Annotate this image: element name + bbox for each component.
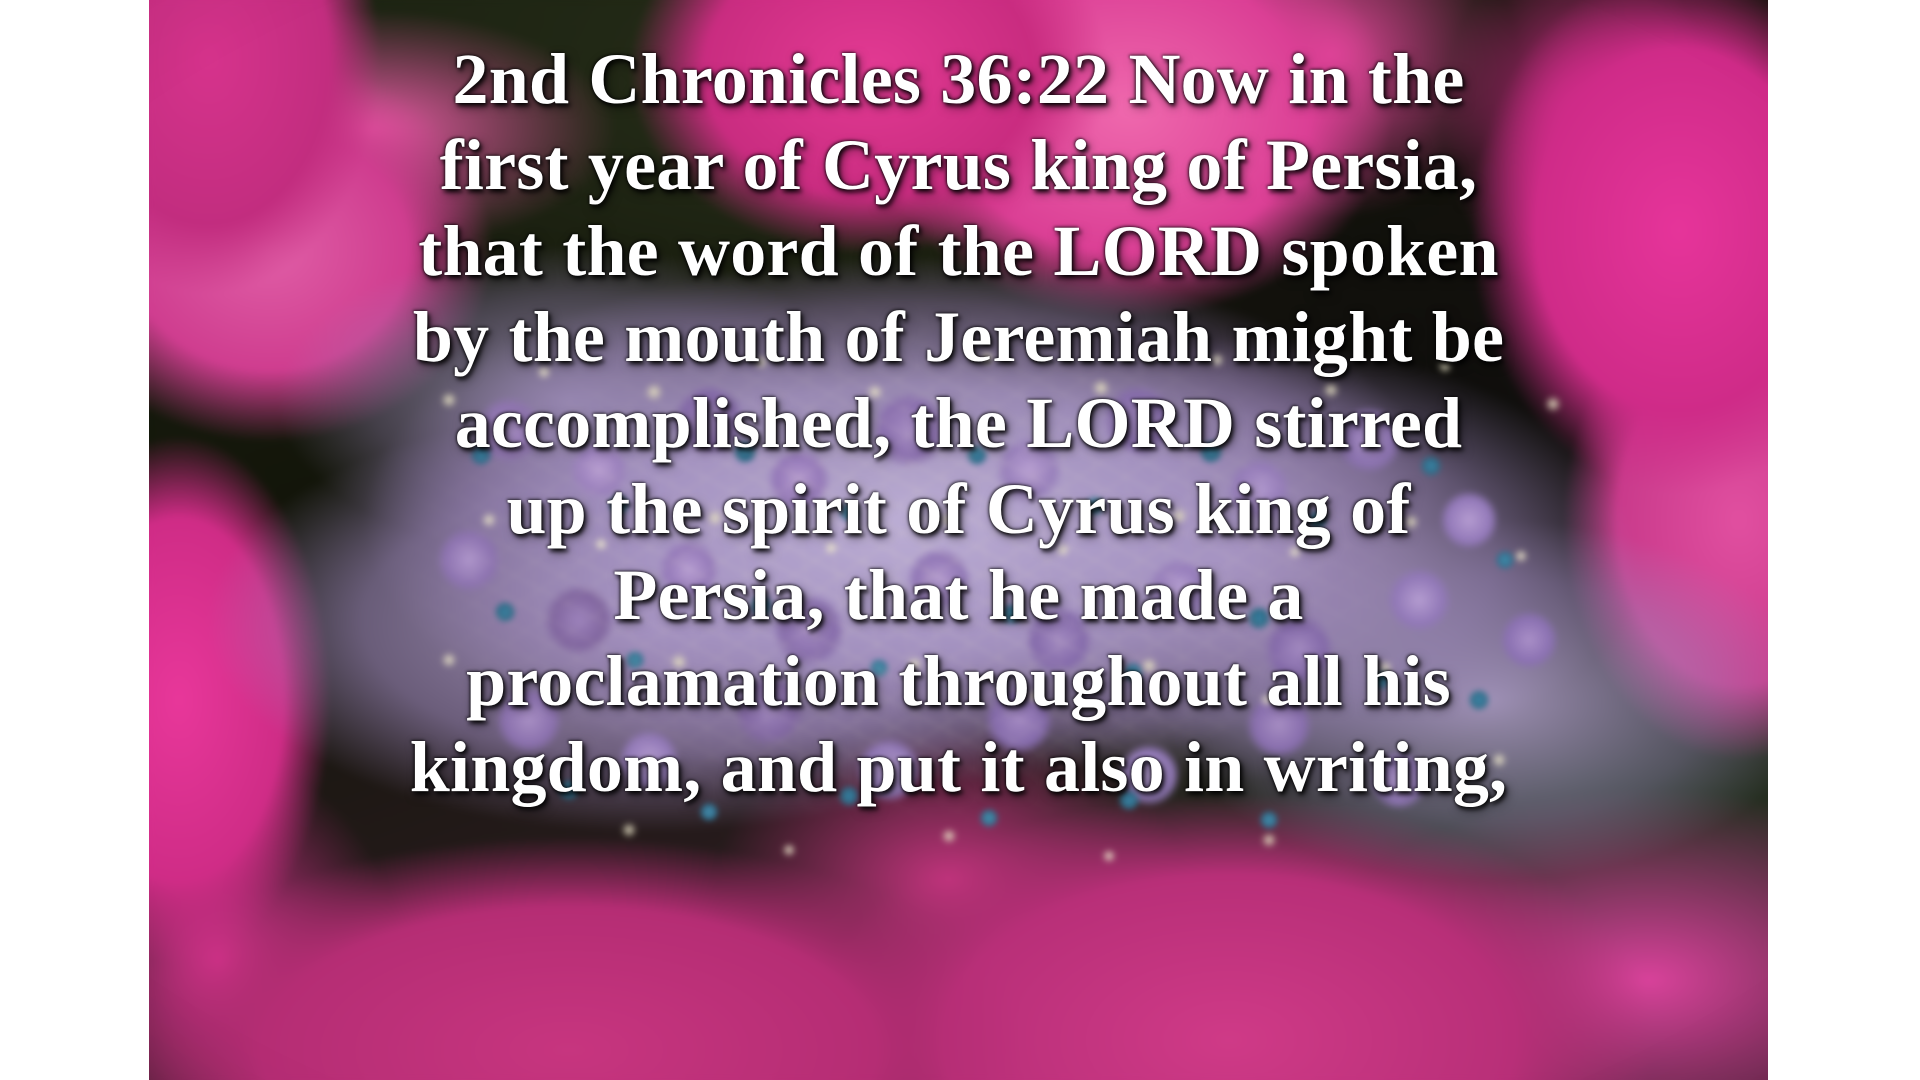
letterbox-bar-left [0,0,149,1080]
letterbox-bar-right [1768,0,1920,1080]
image-canvas: 2nd Chronicles 36:22 Now in the first ye… [0,0,1920,1080]
photo-vignette [149,0,1768,1080]
hydrangea-photograph [149,0,1768,1080]
